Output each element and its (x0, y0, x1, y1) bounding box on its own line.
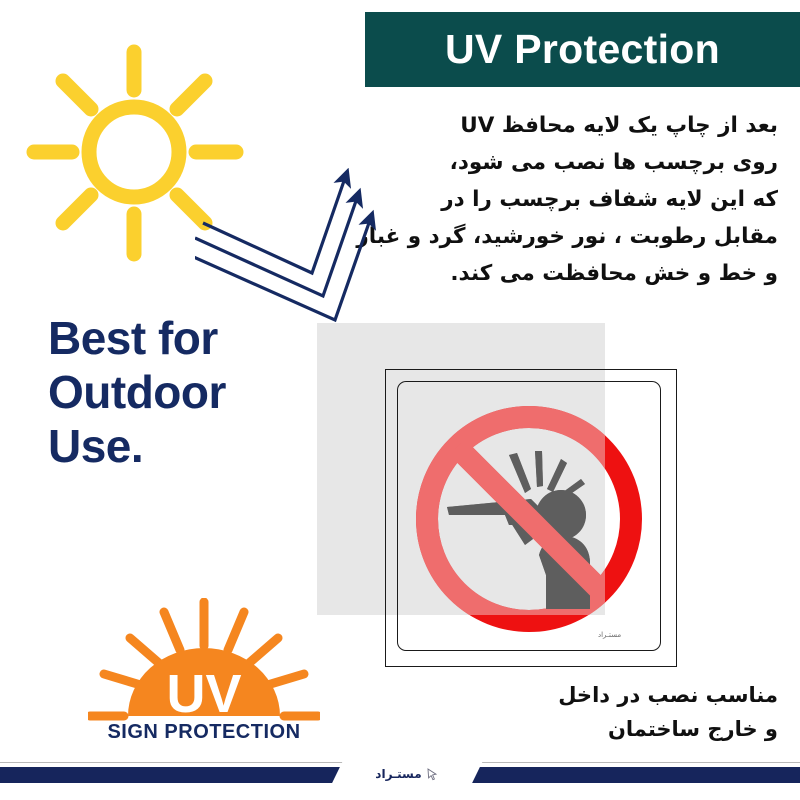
headline: Best for Outdoor Use. (48, 312, 328, 473)
description-line-5: و خط و خش محافظت می کند. (358, 256, 778, 293)
description-line-4: مقابل رطوبت ، نور خورشید، گرد و غبار (358, 219, 778, 256)
logo-uv-text: UV (166, 664, 241, 724)
header-banner: UV Protection (365, 12, 800, 87)
installation-note: مناسب نصب در داخل و خارج ساختمان (478, 678, 778, 746)
description-line-1: بعد از چاپ یک لایه محافظ UV (358, 108, 778, 145)
uv-sign-protection-logo: UV SIGN PROTECTION (88, 598, 320, 758)
footer-brand-text: مستـراد (375, 767, 421, 781)
logo-tagline-text: SIGN PROTECTION (107, 721, 300, 743)
description-line-3: که این لایه شفاف برچسب را در (358, 182, 778, 219)
sign-watermark: مستـراد (598, 631, 621, 639)
headline-line-3: Use. (48, 420, 328, 474)
mouse-pointer-icon (426, 768, 439, 781)
note-line-1: مناسب نصب در داخل (478, 678, 778, 712)
note-line-2: و خارج ساختمان (478, 712, 778, 746)
uv-protection-poster: UV Protection بعد از چاپ یک لایه محافظ U… (0, 0, 800, 800)
sign-demo: مستـراد (317, 323, 677, 671)
headline-line-2: Outdoor (48, 366, 328, 420)
description-line-2: روی برچسب ها نصب می شود، (358, 145, 778, 182)
description-paragraph: بعد از چاپ یک لایه محافظ UV روی برچسب ها… (358, 108, 778, 293)
page-title: UV Protection (445, 29, 720, 70)
footer-brand: مستـراد (352, 762, 462, 786)
sign-inner-border (397, 381, 661, 651)
headline-line-1: Best for (48, 312, 328, 366)
